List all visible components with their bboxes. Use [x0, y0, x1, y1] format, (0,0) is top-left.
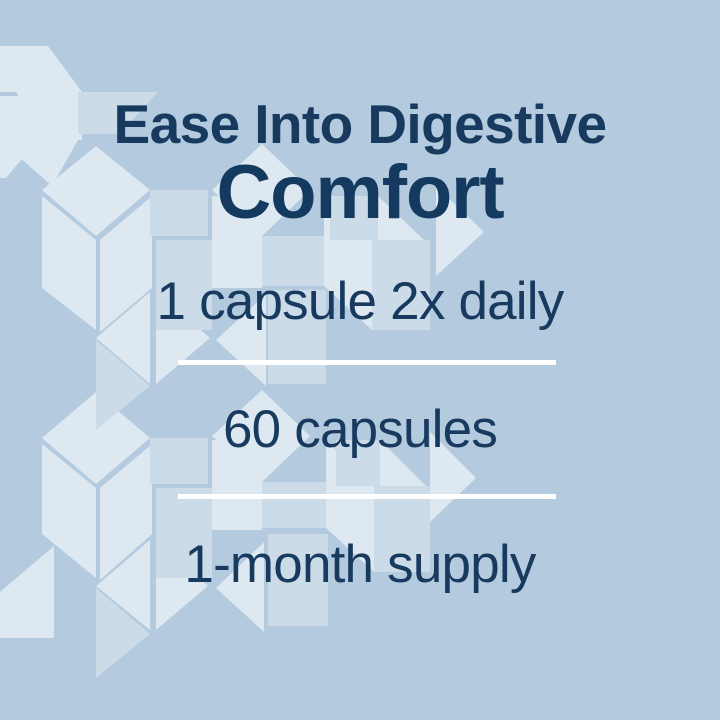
headline-block: Ease Into Digestive Comfort: [0, 96, 720, 232]
divider-1: [178, 360, 556, 365]
divider-2: [178, 494, 556, 499]
fact-dosage: 1 capsule 2x daily: [0, 274, 720, 330]
fact-count: 60 capsules: [0, 402, 720, 458]
product-info-panel: Ease Into Digestive Comfort 1 capsule 2x…: [0, 0, 720, 720]
headline-line-2: Comfort: [0, 154, 720, 232]
fact-supply-duration: 1-month supply: [0, 537, 720, 593]
headline-line-1: Ease Into Digestive: [0, 96, 720, 152]
panel-content: Ease Into Digestive Comfort 1 capsule 2x…: [0, 0, 720, 720]
